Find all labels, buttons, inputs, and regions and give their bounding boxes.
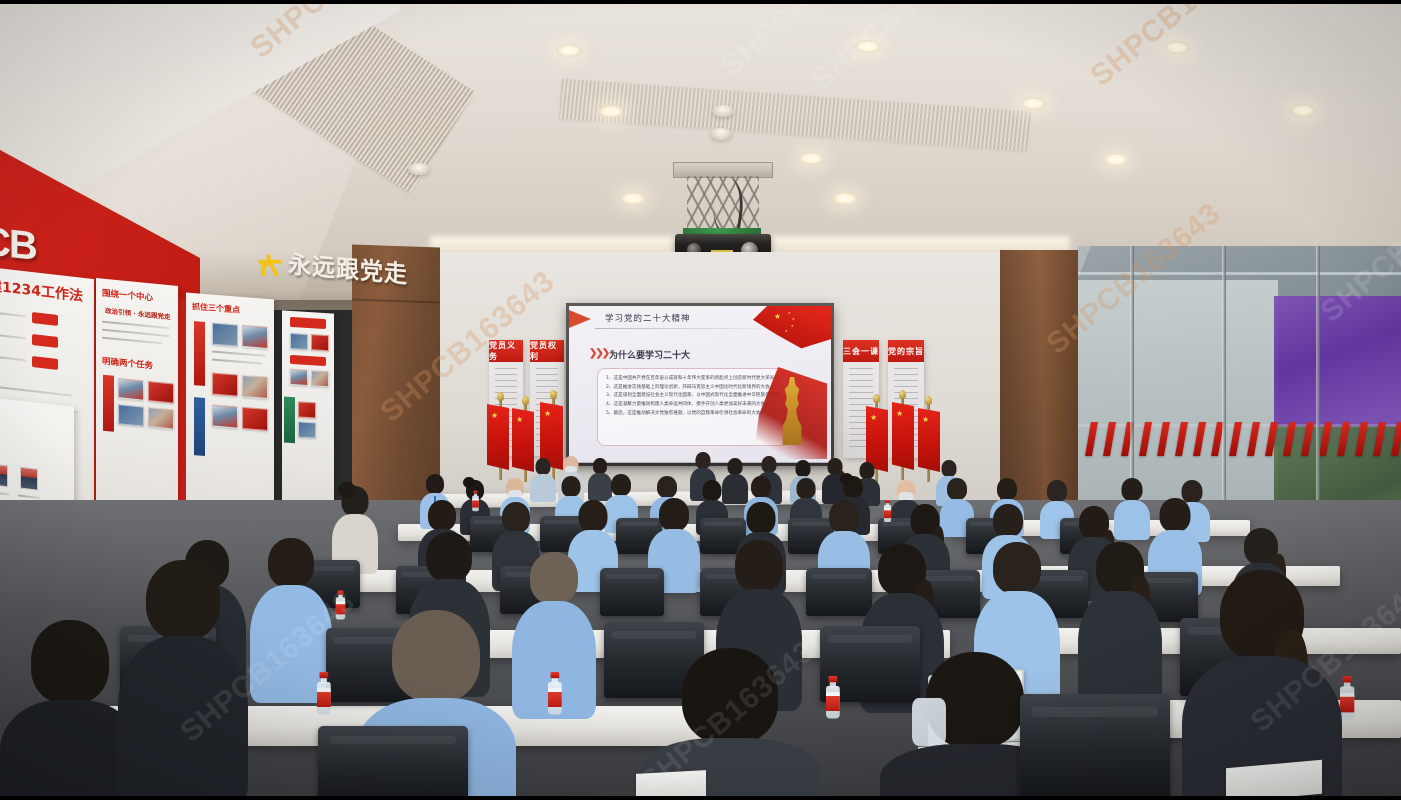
board-photo xyxy=(298,401,316,418)
slide-subtitle: 为什么要学习二十大 xyxy=(609,348,690,361)
slide-title: 学习党的二十大精神 xyxy=(605,312,691,324)
board-vertical-tab xyxy=(103,375,114,432)
head xyxy=(993,504,1023,537)
face-mask xyxy=(912,698,946,746)
board-text-line xyxy=(0,310,26,317)
hair-bun xyxy=(463,477,475,488)
flag-finial xyxy=(873,394,880,403)
board-text-line xyxy=(102,329,170,338)
head xyxy=(268,538,314,588)
slide-bullet: 3、这是谋划全面建设社会主义现代化国家、以中国式现代化全面推进中华民族伟大复兴的… xyxy=(606,392,780,401)
smoke-detector xyxy=(712,105,734,117)
head xyxy=(1047,480,1067,502)
head xyxy=(797,478,816,499)
head xyxy=(735,540,783,592)
mineral-water-bottle[interactable] xyxy=(317,672,331,715)
board-tag xyxy=(32,312,58,326)
wall-panel-title: 党的宗旨 xyxy=(888,340,924,362)
board-title-chip xyxy=(290,317,326,329)
chair xyxy=(1020,694,1170,800)
smoke-detector xyxy=(408,163,430,175)
hair-bun xyxy=(840,473,853,485)
head xyxy=(562,476,581,497)
flag-star: ★ xyxy=(870,414,877,422)
board-vertical-tab xyxy=(284,397,295,444)
board-photo xyxy=(212,405,238,429)
flag-finial xyxy=(550,390,557,399)
board-photo xyxy=(290,369,308,386)
board-photo xyxy=(311,334,329,351)
head xyxy=(682,648,778,744)
board-tag xyxy=(32,356,58,370)
mineral-water-bottle[interactable] xyxy=(548,672,562,715)
projection-screen-frame: 学习党的二十大精神 ❯❯❯ 为什么要学习二十大 1、这是中国共产党在百年奋斗成就… xyxy=(566,303,834,466)
downlight xyxy=(832,192,858,205)
cpc-hammer-sickle-emblem xyxy=(258,250,284,280)
head xyxy=(1160,498,1191,532)
slide-bullet: 5、最后，这是推动解决大党独有难题、以党的自我革命引领社会革命的大会。 xyxy=(606,410,780,419)
head xyxy=(1122,478,1143,501)
glass-mullion-horizontal xyxy=(1078,272,1401,275)
downlight xyxy=(798,152,824,165)
head xyxy=(659,498,689,531)
slide-triangle-accent xyxy=(569,310,591,328)
head xyxy=(728,458,743,475)
flag-finial xyxy=(497,392,504,401)
wall-panel-title: 党员权利 xyxy=(530,340,564,362)
projection-screen: 学习党的二十大精神 ❯❯❯ 为什么要学习二十大 1、这是中国共产党在百年奋斗成就… xyxy=(569,306,831,463)
flag-star: ★ xyxy=(516,416,523,424)
board-text-line xyxy=(0,354,26,361)
board-photo xyxy=(290,333,308,350)
downlight xyxy=(855,40,881,53)
head xyxy=(657,476,677,498)
head xyxy=(426,474,444,494)
head xyxy=(146,560,220,640)
board-text-line xyxy=(102,321,170,330)
board-heading-one-center: 围绕一个中心 xyxy=(102,287,153,304)
board-text-line xyxy=(102,337,162,345)
chair xyxy=(600,568,664,616)
flag-finial xyxy=(899,390,906,399)
flag-star: ★ xyxy=(922,416,929,424)
head xyxy=(762,456,777,473)
head xyxy=(942,460,957,477)
hammer-sickle-glyph xyxy=(258,253,282,277)
head xyxy=(611,474,631,496)
display-board-far xyxy=(282,310,334,513)
downlight xyxy=(556,44,582,57)
flag-star-small: ★ xyxy=(792,317,795,321)
downlight xyxy=(1103,153,1129,166)
flag-star-small: ★ xyxy=(785,329,788,333)
board-title-1234: 党建1234工作法 xyxy=(0,273,83,305)
head xyxy=(997,478,1017,500)
head xyxy=(947,478,967,500)
downlight xyxy=(598,105,624,118)
head xyxy=(796,460,811,477)
head xyxy=(593,458,607,474)
flag-finial xyxy=(925,396,932,405)
downlight xyxy=(1290,104,1316,117)
chinese-flag-graphic: ★ ★ ★ ★ ★ xyxy=(753,306,831,352)
board-vertical-tab xyxy=(194,397,205,456)
mineral-water-bottle[interactable] xyxy=(472,491,479,511)
member-portrait xyxy=(0,463,8,487)
slide-bullet: 2、这是推进实践基础上的理论创新，开辟马克思主义中国化时代化新境界的大会。 xyxy=(606,384,780,393)
board-photo xyxy=(311,370,329,387)
head xyxy=(579,500,608,532)
board-photo xyxy=(118,404,144,427)
downlight xyxy=(1020,97,1046,110)
board-heading-three-focus: 抓住三个重点 xyxy=(192,301,240,316)
chinese-flag: ★ xyxy=(487,404,509,470)
conference-room-photo: CB 永远跟党走 党建1234工作法 围绕一个中心 政治引领 · 永远跟党走 xyxy=(0,0,1401,800)
downlight xyxy=(620,192,646,205)
torso xyxy=(530,474,556,502)
hair-bun xyxy=(338,482,356,498)
flag-star: ★ xyxy=(491,412,498,420)
head xyxy=(751,476,771,498)
board-footnote-line xyxy=(0,383,72,396)
head xyxy=(703,480,722,501)
board-photo xyxy=(118,378,144,401)
member-name-line xyxy=(0,491,10,496)
letterbox-bottom xyxy=(0,796,1401,800)
mineral-water-bottle[interactable] xyxy=(1340,676,1354,720)
letterbox-top xyxy=(0,0,1401,4)
board-text-line xyxy=(0,332,26,339)
board-tag xyxy=(32,334,58,348)
company-logo: CB xyxy=(0,219,36,270)
head xyxy=(31,620,109,704)
head xyxy=(696,452,711,469)
downlight xyxy=(1164,41,1190,54)
member-name-line xyxy=(18,494,40,499)
air-vent-grille-secondary xyxy=(559,79,1031,152)
slide-chevron-icon: ❯❯❯ xyxy=(589,348,608,359)
board-photo xyxy=(242,375,268,399)
head xyxy=(747,502,776,534)
wall-panel-title: 党员义务 xyxy=(489,340,523,362)
slide-divider xyxy=(595,328,795,329)
board-text-line xyxy=(212,359,262,365)
flag-star-large: ★ xyxy=(774,312,781,321)
head xyxy=(993,542,1041,594)
flag-finial xyxy=(522,396,529,405)
board-banner-text: 政治引领 · 永远跟党走 xyxy=(105,305,171,321)
board-photo xyxy=(148,407,174,430)
board-vertical-tab xyxy=(194,321,205,386)
attendee xyxy=(530,458,556,500)
board-photo xyxy=(242,407,268,431)
head xyxy=(426,532,472,582)
head xyxy=(536,458,551,475)
board-photo xyxy=(148,381,174,404)
red-banner-row-upper xyxy=(1088,422,1401,462)
board-photo xyxy=(242,325,268,349)
mineral-water-bottle[interactable] xyxy=(884,500,891,522)
torso xyxy=(118,636,248,800)
flag-star-small: ★ xyxy=(788,311,791,315)
board-title-chip xyxy=(290,355,326,366)
board-photo xyxy=(212,323,238,347)
head-balding xyxy=(392,610,480,702)
head xyxy=(502,502,530,533)
smoke-detector xyxy=(710,128,732,140)
board-text-line xyxy=(212,351,266,357)
head xyxy=(829,500,859,533)
flag-star: ★ xyxy=(544,410,551,418)
head-balding xyxy=(530,552,578,604)
board-photo xyxy=(212,373,238,397)
board-photo xyxy=(298,421,316,438)
attendee-foreground xyxy=(118,560,248,800)
board-heading-two-tasks: 明确两个任务 xyxy=(102,355,153,372)
chinese-flag: ★ xyxy=(892,402,914,470)
wall-panel-title: 三会一课 xyxy=(843,340,879,362)
head xyxy=(428,500,456,531)
chair xyxy=(318,726,468,800)
slide-bullet: 4、这是凝聚力量推动构建人类命运共同体、携手开创人类更加美好未来的大会。 xyxy=(606,401,780,410)
flag-star-small: ★ xyxy=(791,324,794,328)
slide-bullet: 1、这是中国共产党在百年奋斗成就和十年伟大变革的新起点上创造新时代更大荣光的大会… xyxy=(606,375,780,384)
member-portrait xyxy=(20,467,38,491)
flag-star: ★ xyxy=(896,410,903,418)
attendee xyxy=(1078,542,1162,706)
mineral-water-bottle[interactable] xyxy=(826,676,840,719)
mineral-water-bottle[interactable] xyxy=(336,591,345,620)
